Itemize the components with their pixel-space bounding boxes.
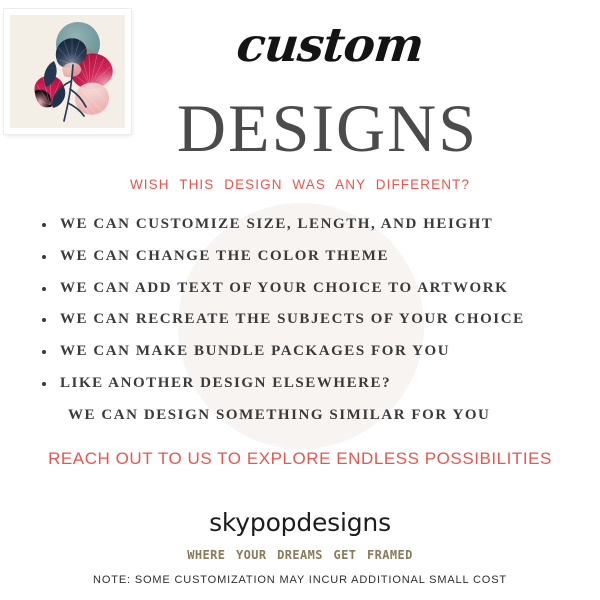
promotional-poster: custom DESIGNS WISH THIS DESIGN WAS ANY …	[0, 0, 600, 600]
list-item-label: WE CAN MAKE BUNDLE PACKAGES FOR YOU	[60, 343, 450, 359]
bullet-dot-icon	[42, 382, 46, 386]
list-item: WE CAN ADD TEXT OF YOUR CHOICE TO ARTWOR…	[40, 280, 570, 297]
feature-list: WE CAN CUSTOMIZE SIZE, LENGTH, AND HEIGH…	[40, 216, 570, 438]
footnote-text: NOTE: SOME CUSTOMIZATION MAY INCUR ADDIT…	[0, 574, 600, 586]
list-item: WE CAN CUSTOMIZE SIZE, LENGTH, AND HEIGH…	[40, 216, 570, 233]
call-to-action-text: REACH OUT TO US TO EXPLORE ENDLESS POSSI…	[0, 449, 600, 469]
bullet-dot-icon	[42, 350, 46, 354]
list-item-label: WE CAN ADD TEXT OF YOUR CHOICE TO ARTWOR…	[60, 280, 508, 296]
list-item-continuation: WE CAN DESIGN SOMETHING SIMILAR FOR YOU	[40, 407, 570, 424]
list-item-label: LIKE ANOTHER DESIGN ELSEWHERE?	[60, 375, 391, 391]
list-item: LIKE ANOTHER DESIGN ELSEWHERE?	[40, 375, 570, 392]
list-item-label: WE CAN DESIGN SOMETHING SIMILAR FOR YOU	[68, 407, 490, 423]
bullet-dot-icon	[42, 223, 46, 227]
brand-tagline: WHERE YOUR DREAMS GET FRAMED	[0, 548, 600, 562]
list-item-label: WE CAN CUSTOMIZE SIZE, LENGTH, AND HEIGH…	[60, 216, 493, 232]
page-title: DESIGNS	[0, 94, 600, 162]
list-item-label: WE CAN CHANGE THE COLOR THEME	[60, 248, 389, 264]
list-item: WE CAN RECREATE THE SUBJECTS OF YOUR CHO…	[40, 311, 570, 328]
bullet-dot-icon	[42, 255, 46, 259]
script-title: custom	[0, 22, 600, 69]
bullet-dot-icon	[42, 287, 46, 291]
list-item: WE CAN MAKE BUNDLE PACKAGES FOR YOU	[40, 343, 570, 360]
brand-name: skypopdesigns	[0, 508, 600, 537]
list-item: WE CAN CHANGE THE COLOR THEME	[40, 248, 570, 265]
bullet-dot-icon	[42, 318, 46, 322]
subtitle-question: WISH THIS DESIGN WAS ANY DIFFERENT?	[0, 177, 600, 192]
list-item-label: WE CAN RECREATE THE SUBJECTS OF YOUR CHO…	[60, 311, 525, 327]
